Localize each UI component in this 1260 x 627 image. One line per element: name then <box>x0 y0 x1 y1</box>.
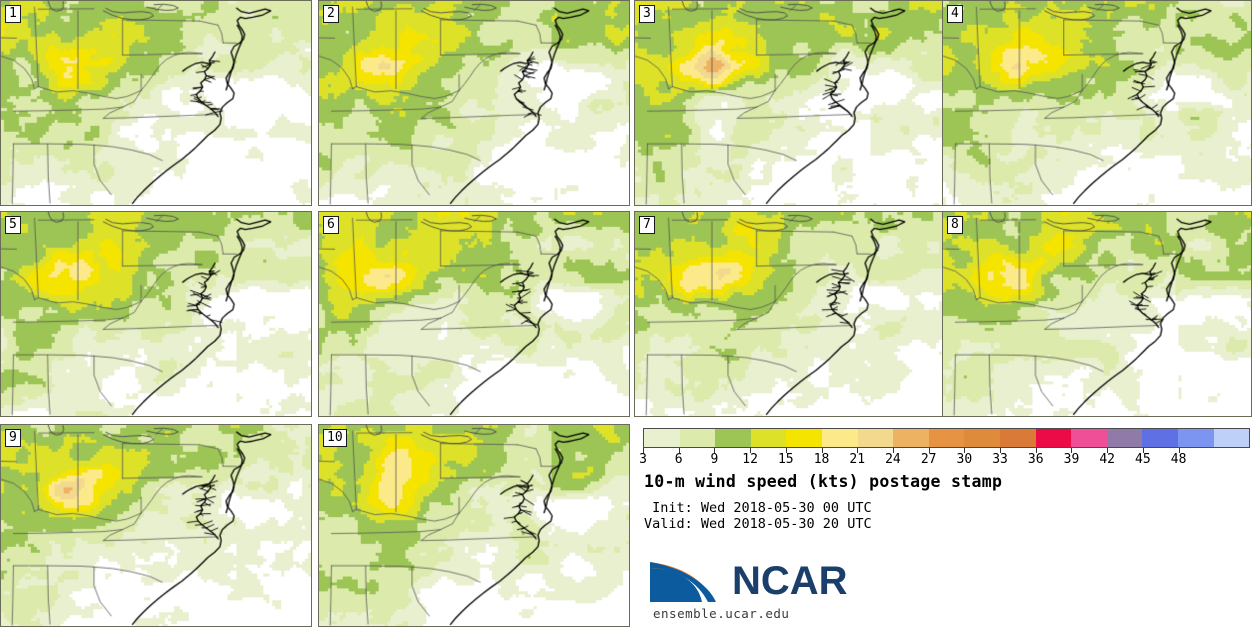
colorbar-swatch-16 <box>1214 429 1250 447</box>
colorbar-swatch-7 <box>893 429 929 447</box>
map-panel-6[interactable]: 6 <box>318 211 630 417</box>
map-panel-1[interactable]: 1 <box>0 0 312 206</box>
map-panel-3-field <box>635 1 945 205</box>
colorbar-ticklabel-48: 48 <box>1171 452 1187 467</box>
colorbar-swatches <box>643 428 1250 448</box>
colorbar-ticklabel-9: 9 <box>710 452 718 467</box>
panel-label-3: 3 <box>639 5 655 23</box>
figure-caption: 10-m wind speed (kts) postage stamp Init… <box>644 472 1244 532</box>
colorbar-swatch-6 <box>858 429 894 447</box>
ensemble-url-text: ensemble.ucar.edu <box>653 606 789 621</box>
colorbar-swatch-5 <box>822 429 858 447</box>
panel-label-6: 6 <box>323 216 339 234</box>
colorbar-ticklabel-12: 12 <box>742 452 758 467</box>
colorbar-ticklabel-15: 15 <box>778 452 794 467</box>
panel-label-10: 10 <box>323 429 347 447</box>
colorbar-ticklabel-36: 36 <box>1028 452 1044 467</box>
map-panel-8[interactable]: 8 <box>942 211 1252 417</box>
colorbar-swatch-2 <box>715 429 751 447</box>
colorbar-ticklabel-45: 45 <box>1135 452 1151 467</box>
figure-title: 10-m wind speed (kts) postage stamp <box>644 472 1244 491</box>
panel-label-1: 1 <box>5 5 21 23</box>
map-panel-9-field <box>1 425 311 626</box>
map-panel-1-field <box>1 1 311 205</box>
ncar-logo-mark <box>648 556 728 604</box>
colorbar-swatch-3 <box>751 429 787 447</box>
colorbar-swatch-8 <box>929 429 965 447</box>
colorbar-ticklabel-18: 18 <box>814 452 830 467</box>
colorbar-swatch-15 <box>1178 429 1214 447</box>
colorbar-ticklabel-21: 21 <box>849 452 865 467</box>
map-panel-6-field <box>319 212 629 416</box>
map-panel-5-field <box>1 212 311 416</box>
colorbar-swatch-1 <box>680 429 716 447</box>
colorbar-swatch-12 <box>1071 429 1107 447</box>
colorbar-swatch-11 <box>1036 429 1072 447</box>
map-panel-4-field <box>943 1 1251 205</box>
colorbar-swatch-9 <box>964 429 1000 447</box>
map-panel-9[interactable]: 9 <box>0 424 312 627</box>
colorbar-swatch-0 <box>644 429 680 447</box>
valid-time-line: Valid: Wed 2018-05-30 20 UTC <box>644 516 1244 532</box>
colorbar-ticklabel-3: 3 <box>639 452 647 467</box>
colorbar-ticklabel-6: 6 <box>675 452 683 467</box>
colorbar-swatch-14 <box>1142 429 1178 447</box>
map-panel-10[interactable]: 10 <box>318 424 630 627</box>
map-panel-2[interactable]: 2 <box>318 0 630 206</box>
colorbar-ticklabel-33: 33 <box>992 452 1008 467</box>
colorbar-ticklabel-39: 39 <box>1064 452 1080 467</box>
panel-label-2: 2 <box>323 5 339 23</box>
panel-label-8: 8 <box>947 216 963 234</box>
panel-label-5: 5 <box>5 216 21 234</box>
colorbar-ticklabel-24: 24 <box>885 452 901 467</box>
map-panel-3[interactable]: 3 <box>634 0 946 206</box>
map-panel-2-field <box>319 1 629 205</box>
map-panel-7-field <box>635 212 945 416</box>
colorbar-swatch-13 <box>1107 429 1143 447</box>
postage-stamp-figure: 12345678910 3691215182124273033363942454… <box>0 0 1260 627</box>
map-panel-7[interactable]: 7 <box>634 211 946 417</box>
panel-label-9: 9 <box>5 429 21 447</box>
ncar-wordmark: NCAR <box>732 559 848 603</box>
map-panel-10-field <box>319 425 629 626</box>
map-panel-5[interactable]: 5 <box>0 211 312 417</box>
colorbar: 36912151821242730333639424548 <box>643 428 1250 448</box>
colorbar-ticklabel-42: 42 <box>1099 452 1115 467</box>
colorbar-swatch-4 <box>786 429 822 447</box>
init-time-line: Init: Wed 2018-05-30 00 UTC <box>644 500 1244 516</box>
colorbar-swatch-10 <box>1000 429 1036 447</box>
panel-label-7: 7 <box>639 216 655 234</box>
colorbar-ticklabel-30: 30 <box>957 452 973 467</box>
colorbar-ticklabel-27: 27 <box>921 452 937 467</box>
panel-label-4: 4 <box>947 5 963 23</box>
map-panel-8-field <box>943 212 1251 416</box>
colorbar-tick-labels: 36912151821242730333639424548 <box>643 448 1250 466</box>
ncar-logo: NCAR ensemble.ucar.edu <box>648 556 968 622</box>
map-panel-4[interactable]: 4 <box>942 0 1252 206</box>
